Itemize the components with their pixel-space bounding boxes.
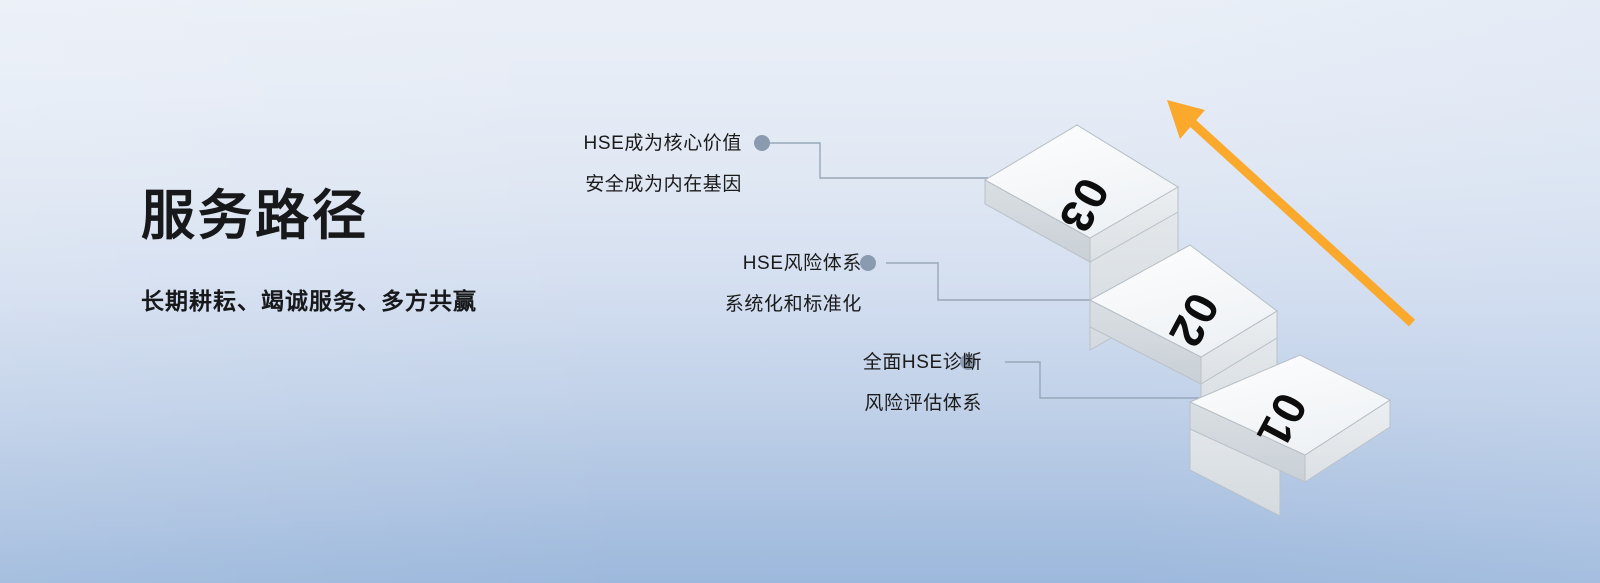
growth-arrow-shaft bbox=[1186, 117, 1412, 323]
slide-canvas: 服务路径 长期耕耘、竭诚服务、多方共赢 HSE成为核心价值 安全成为内在基因 H… bbox=[0, 0, 1600, 583]
callout-02-line-1: HSE风险体系 bbox=[580, 254, 862, 273]
page-title: 服务路径 bbox=[141, 186, 477, 246]
callout-03-line-2: 安全成为内在基因 bbox=[460, 175, 742, 194]
callout-02-line-2: 系统化和标准化 bbox=[580, 295, 862, 314]
callout-03-line-1: HSE成为核心价值 bbox=[460, 134, 742, 153]
callout-01: 全面HSE诊断 风险评估体系 bbox=[700, 353, 982, 413]
page-subtitle: 长期耕耘、竭诚服务、多方共赢 bbox=[141, 282, 477, 316]
headline-group: 服务路径 长期耕耘、竭诚服务、多方共赢 bbox=[141, 186, 477, 316]
growth-arrow bbox=[1167, 100, 1412, 323]
callout-02: HSE风险体系 系统化和标准化 bbox=[580, 254, 862, 314]
callout-01-line-2: 风险评估体系 bbox=[700, 394, 982, 413]
callout-01-line-1: 全面HSE诊断 bbox=[700, 353, 982, 372]
callout-03: HSE成为核心价值 安全成为内在基因 bbox=[460, 134, 742, 194]
